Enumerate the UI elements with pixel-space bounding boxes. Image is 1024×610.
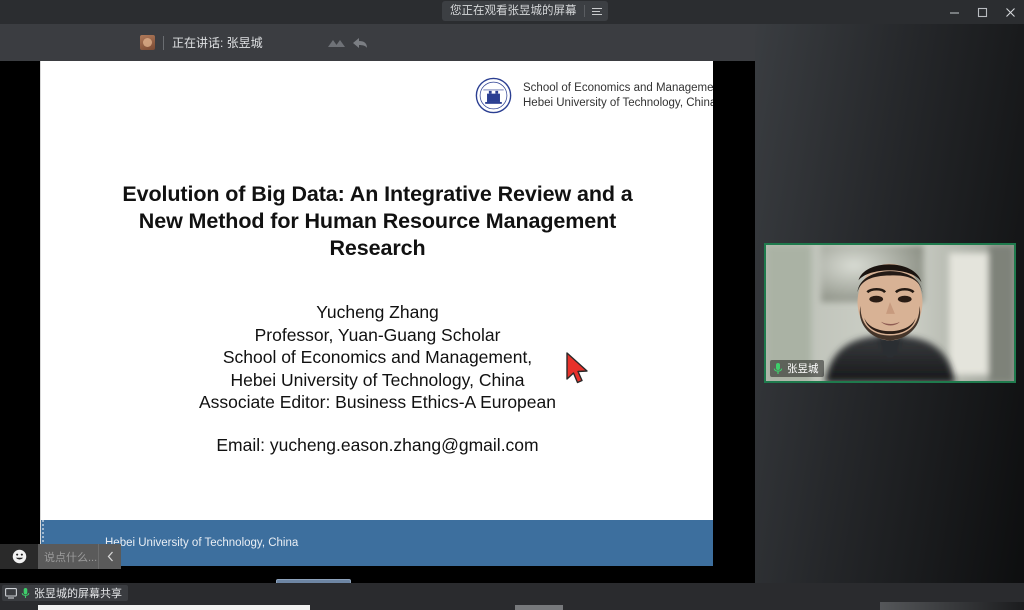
active-speaker-label: 正在讲话: 张昱城 bbox=[172, 34, 263, 51]
author-line-2: Professor, Yuan-Guang Scholar bbox=[81, 324, 674, 347]
microphone-icon bbox=[773, 362, 783, 375]
slide-org-text: School of Economics and Management, Hebe… bbox=[523, 81, 713, 111]
slide-branding: School of Economics and Management, Hebe… bbox=[475, 77, 713, 114]
author-line-1: Yucheng Zhang bbox=[81, 301, 674, 324]
watching-screen-label: 您正在观看张昱城的屏幕 bbox=[450, 1, 577, 21]
hamburger-icon[interactable] bbox=[590, 8, 604, 15]
taskbar-screen-share-item[interactable]: 张昱城的屏幕共享 bbox=[2, 585, 128, 601]
red-arrow-pointer-icon bbox=[565, 352, 591, 386]
collapse-toolbar-icon[interactable] bbox=[325, 32, 347, 54]
presentation-slide: School of Economics and Management, Hebe… bbox=[40, 61, 713, 566]
participant-name-badge: 张昱城 bbox=[770, 360, 824, 377]
monitor-icon bbox=[5, 588, 17, 599]
chat-input-bar: 说点什么... bbox=[0, 544, 121, 569]
app-root: 您正在观看张昱城的屏幕 正在讲话: 张昱城 bbox=[0, 0, 1024, 610]
window-titlebar: 您正在观看张昱城的屏幕 bbox=[0, 0, 1024, 24]
close-icon[interactable] bbox=[996, 0, 1024, 24]
microphone-icon bbox=[21, 587, 30, 599]
chevron-left-icon[interactable] bbox=[98, 544, 121, 569]
bottom-right-strip bbox=[880, 602, 1024, 610]
banner-divider bbox=[584, 5, 585, 17]
taskbar-label: 张昱城的屏幕共享 bbox=[34, 585, 122, 601]
meeting-toolbar: 正在讲话: 张昱城 bbox=[0, 24, 755, 61]
participant-video-tile[interactable]: 张昱城 bbox=[764, 243, 1016, 383]
participant-panel: 张昱城 bbox=[755, 24, 1024, 583]
toolbar-icon-group bbox=[325, 32, 371, 54]
maximize-icon[interactable] bbox=[968, 0, 996, 24]
slide-footer-label: Hebei University of Technology, China bbox=[105, 537, 298, 549]
chat-input[interactable]: 说点什么... bbox=[38, 544, 98, 569]
slide-email: Email: yucheng.eason.zhang@gmail.com bbox=[81, 435, 674, 456]
author-line-5: Associate Editor: Business Ethics-A Euro… bbox=[81, 391, 674, 414]
bottom-gray-strip bbox=[515, 605, 563, 610]
emoji-smiley-icon[interactable] bbox=[0, 544, 38, 569]
window-controls bbox=[940, 0, 1024, 24]
active-speaker-chip: 正在讲话: 张昱城 bbox=[140, 34, 263, 51]
org-line-1: School of Economics and Management, bbox=[523, 81, 713, 96]
watching-screen-banner[interactable]: 您正在观看张昱城的屏幕 bbox=[442, 1, 608, 21]
slide-title: Evolution of Big Data: An Integrative Re… bbox=[101, 181, 654, 261]
chip-divider bbox=[163, 36, 164, 50]
minimize-icon[interactable] bbox=[940, 0, 968, 24]
back-arrow-icon[interactable] bbox=[349, 32, 371, 54]
university-crest-icon bbox=[475, 77, 512, 114]
participant-name: 张昱城 bbox=[787, 361, 819, 376]
org-line-2: Hebei University of Technology, China bbox=[523, 96, 713, 111]
slide-footer: Hebei University of Technology, China bbox=[41, 520, 713, 566]
shared-screen-stage: School of Economics and Management, Hebe… bbox=[0, 61, 755, 583]
speaker-avatar-icon bbox=[140, 35, 155, 50]
bottom-white-strip bbox=[38, 605, 310, 610]
